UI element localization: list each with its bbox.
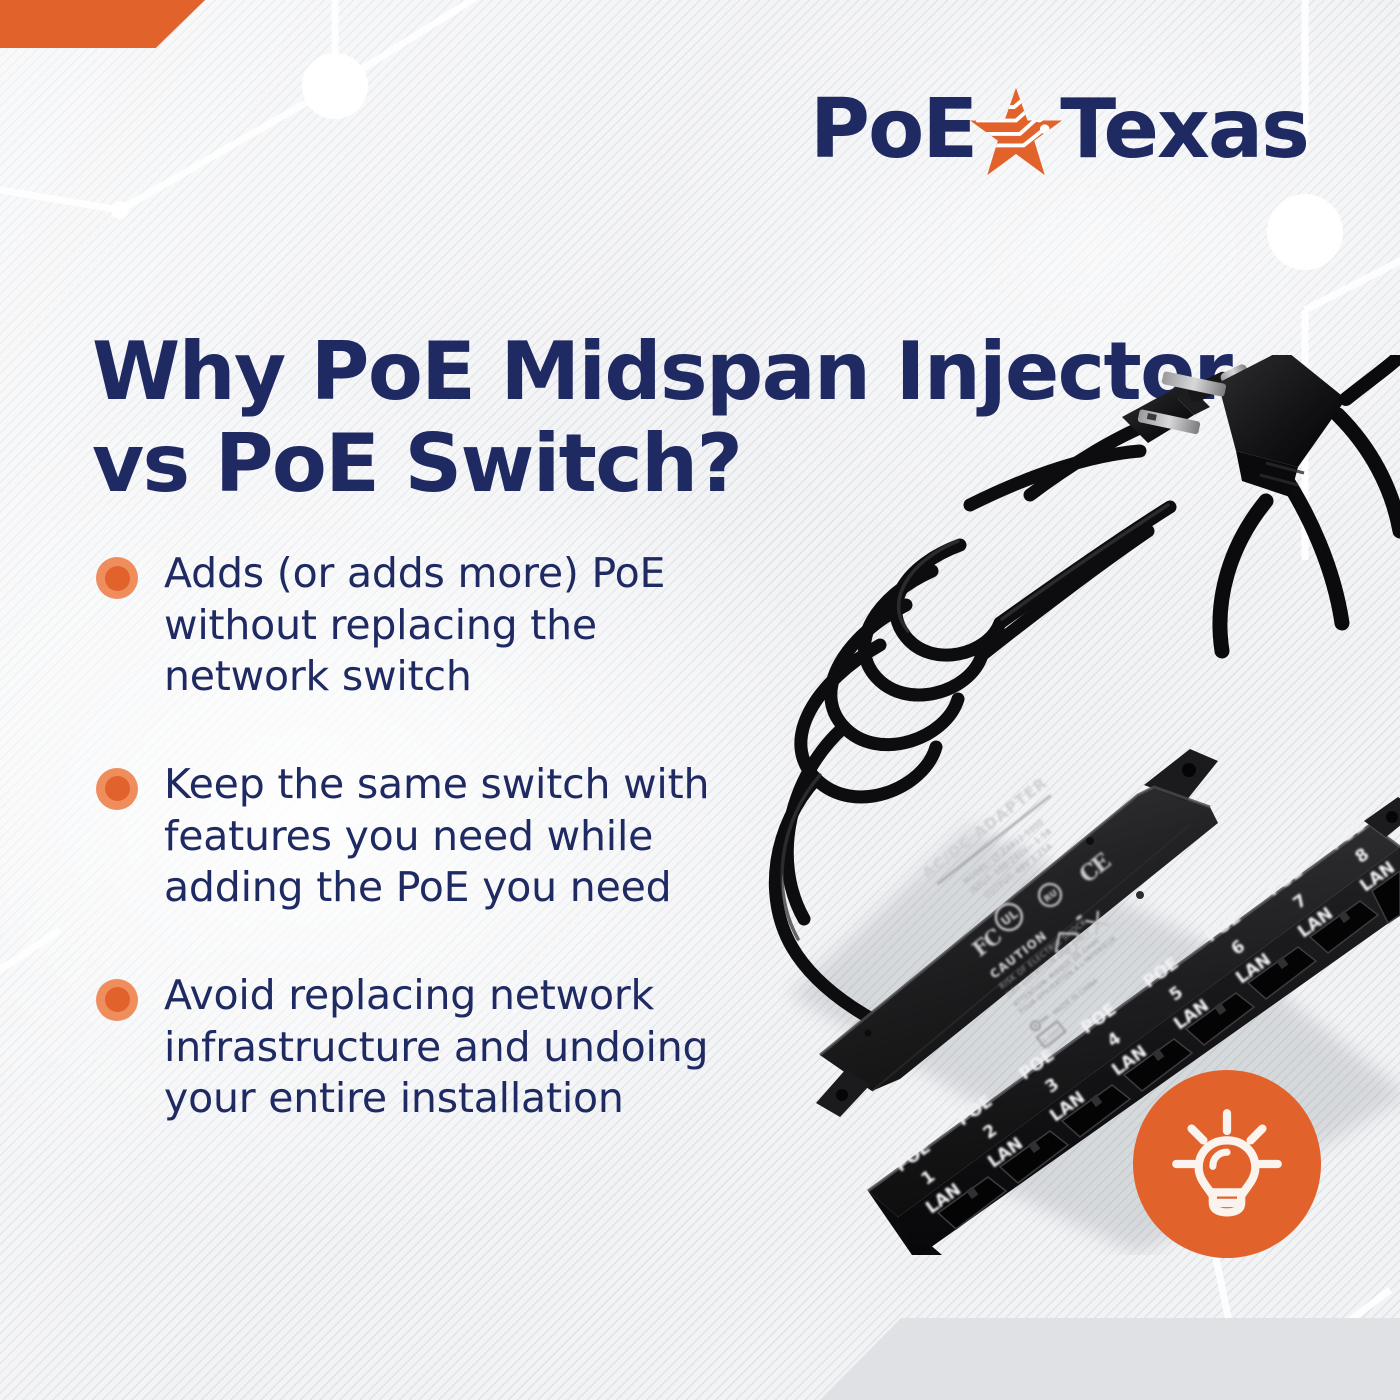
bullet-dot-icon: [96, 768, 138, 810]
list-item: Avoid replacing network infrastructure a…: [96, 970, 736, 1125]
lightbulb-idea-icon: [1168, 1105, 1286, 1223]
status-badge: [1133, 1070, 1321, 1258]
list-item: Adds (or adds more) PoE without replacin…: [96, 548, 736, 703]
poe-texas-logo: PoE Texas: [810, 84, 1308, 176]
corner-accent-bottom-right: [820, 1318, 1400, 1400]
star-circuit-icon: [968, 86, 1064, 178]
list-item: Keep the same switch with features you n…: [96, 759, 736, 914]
logo-text-poe: PoE: [810, 89, 976, 171]
bullet-dot-icon: [96, 979, 138, 1021]
benefits-list: Adds (or adds more) PoE without replacin…: [96, 548, 736, 1125]
list-item-label: Keep the same switch with features you n…: [164, 759, 736, 914]
bullet-dot-icon: [96, 557, 138, 599]
logo-text-texas: Texas: [1060, 89, 1308, 171]
list-item-label: Avoid replacing network infrastructure a…: [164, 970, 736, 1125]
infographic-canvas: PoE Texas Why PoE Mids: [0, 0, 1400, 1400]
list-item-label: Adds (or adds more) PoE without replacin…: [164, 548, 736, 703]
